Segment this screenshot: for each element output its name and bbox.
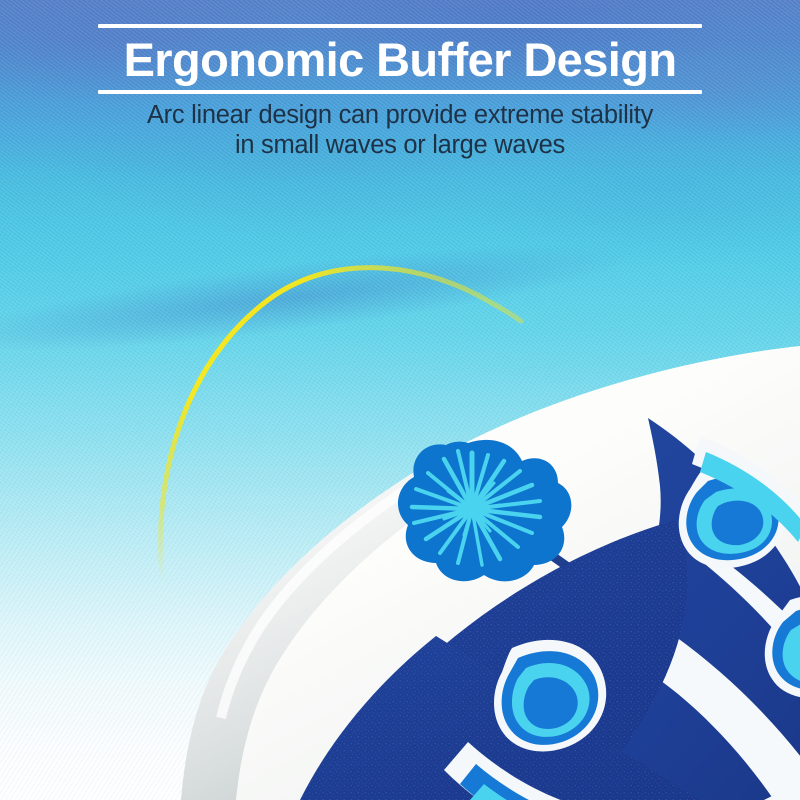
- deck-pinstripe-upper: [234, 331, 420, 463]
- page-title: Ergonomic Buffer Design: [0, 31, 800, 89]
- hibiscus-center-dot: [463, 500, 481, 518]
- subtitle-line-1: Arc linear design can provide extreme st…: [0, 100, 800, 130]
- product-feature-banner: Ergonomic Buffer Design Arc linear desig…: [0, 0, 800, 800]
- hibiscus-flower-decal: [398, 440, 571, 581]
- headline-block: Ergonomic Buffer Design Arc linear desig…: [0, 24, 800, 160]
- subtitle: Arc linear design can provide extreme st…: [0, 100, 800, 160]
- rule-top: [98, 24, 702, 28]
- subtitle-line-2: in small waves or large waves: [0, 130, 800, 160]
- rule-bottom: [98, 90, 702, 94]
